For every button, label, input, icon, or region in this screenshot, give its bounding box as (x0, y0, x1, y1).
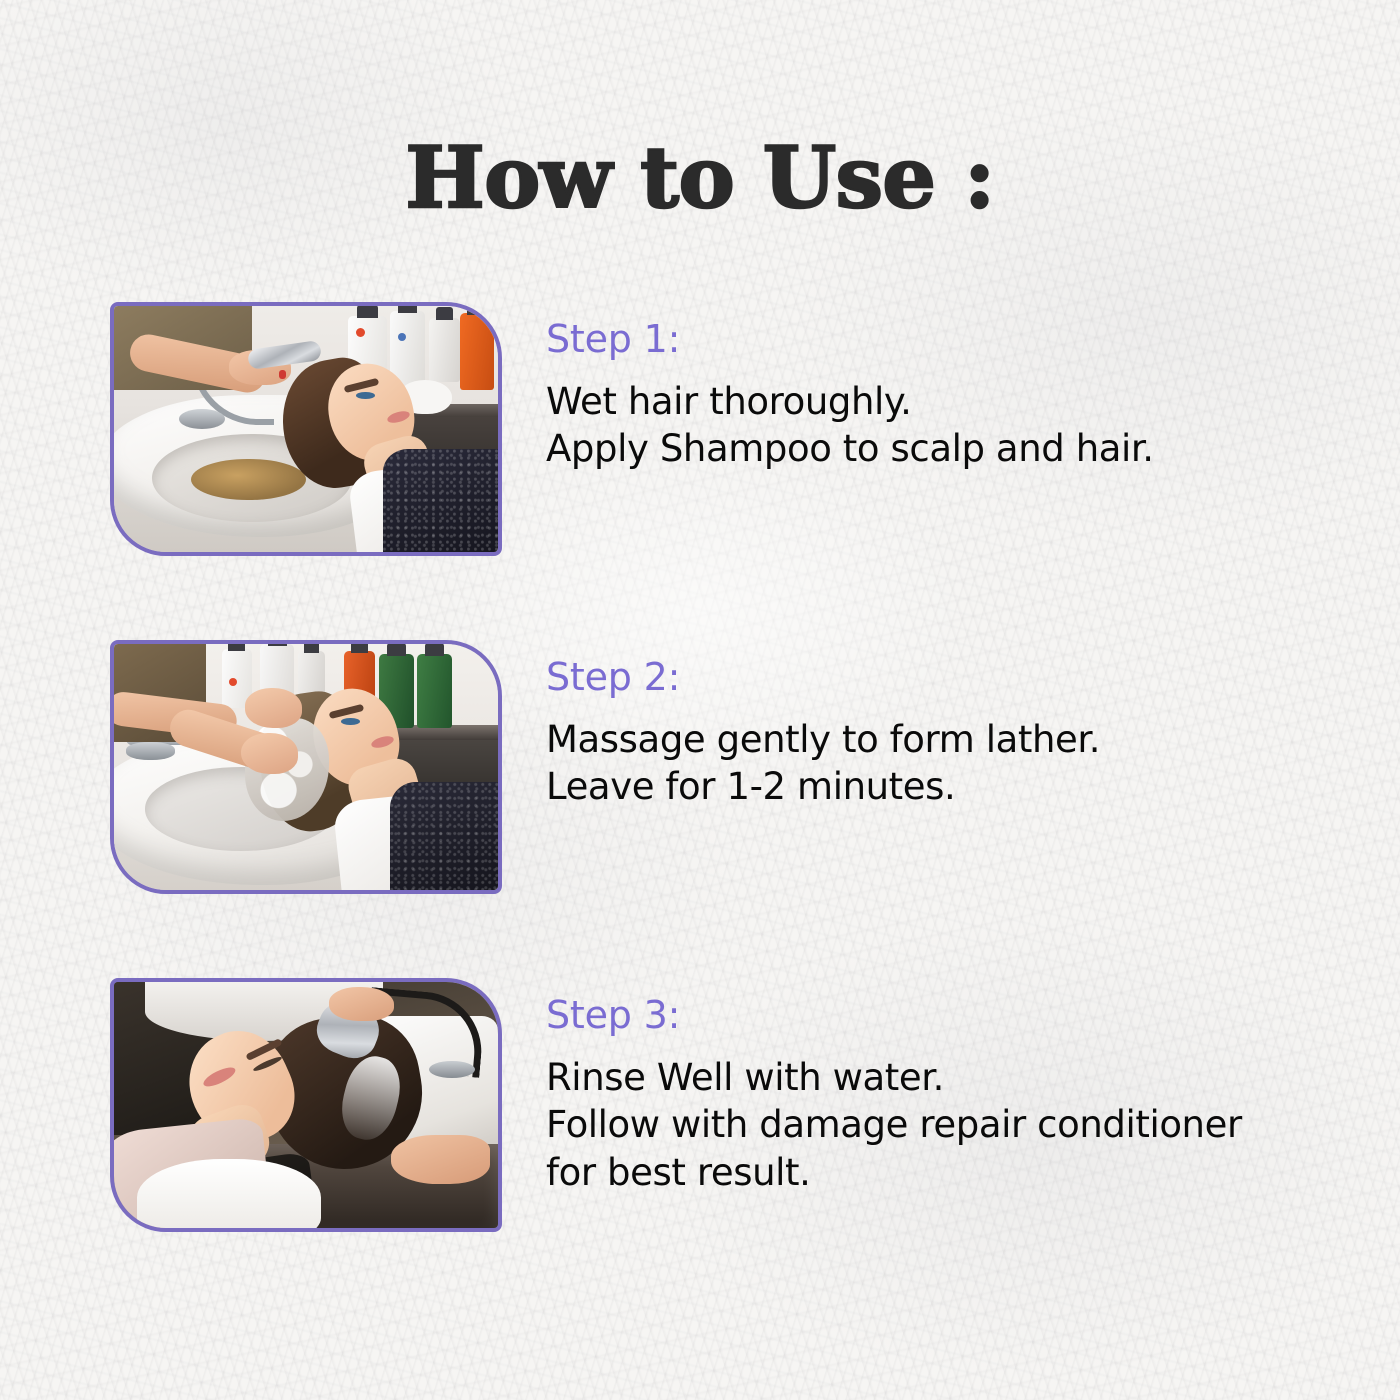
how-to-use-page: How to Use : (0, 0, 1400, 1400)
step-text-block: Step 1: Wet hair thoroughly. Apply Shamp… (502, 302, 1400, 473)
step-row: Step 1: Wet hair thoroughly. Apply Shamp… (0, 302, 1400, 556)
step-photo-3 (114, 982, 498, 1228)
step-label: Step 2: (546, 658, 1370, 696)
step-line: Rinse Well with water. (546, 1054, 1370, 1101)
step-label: Step 3: (546, 996, 1370, 1034)
step-line: Leave for 1-2 minutes. (546, 763, 1370, 810)
step-label: Step 1: (546, 320, 1370, 358)
step-line: for best result. (546, 1149, 1370, 1196)
step-description: Rinse Well with water. Follow with damag… (546, 1054, 1370, 1196)
step-row: Step 3: Rinse Well with water. Follow wi… (0, 978, 1400, 1232)
step-line: Follow with damage repair conditioner (546, 1101, 1370, 1148)
step-photo-2 (114, 644, 498, 890)
step-image-card-3[interactable] (110, 978, 502, 1232)
step-row: Step 2: Massage gently to form lather. L… (0, 640, 1400, 894)
steps-list: Step 1: Wet hair thoroughly. Apply Shamp… (0, 302, 1400, 1316)
step-line: Massage gently to form lather. (546, 716, 1370, 763)
step-description: Massage gently to form lather. Leave for… (546, 716, 1370, 811)
step-image-card-2[interactable] (110, 640, 502, 894)
step-text-block: Step 3: Rinse Well with water. Follow wi… (502, 978, 1400, 1196)
step-text-block: Step 2: Massage gently to form lather. L… (502, 640, 1400, 811)
step-image-card-1[interactable] (110, 302, 502, 556)
step-line: Apply Shampoo to scalp and hair. (546, 425, 1370, 472)
step-description: Wet hair thoroughly. Apply Shampoo to sc… (546, 378, 1370, 473)
step-photo-1 (114, 306, 498, 552)
page-title: How to Use : (0, 134, 1400, 222)
step-line: Wet hair thoroughly. (546, 378, 1370, 425)
